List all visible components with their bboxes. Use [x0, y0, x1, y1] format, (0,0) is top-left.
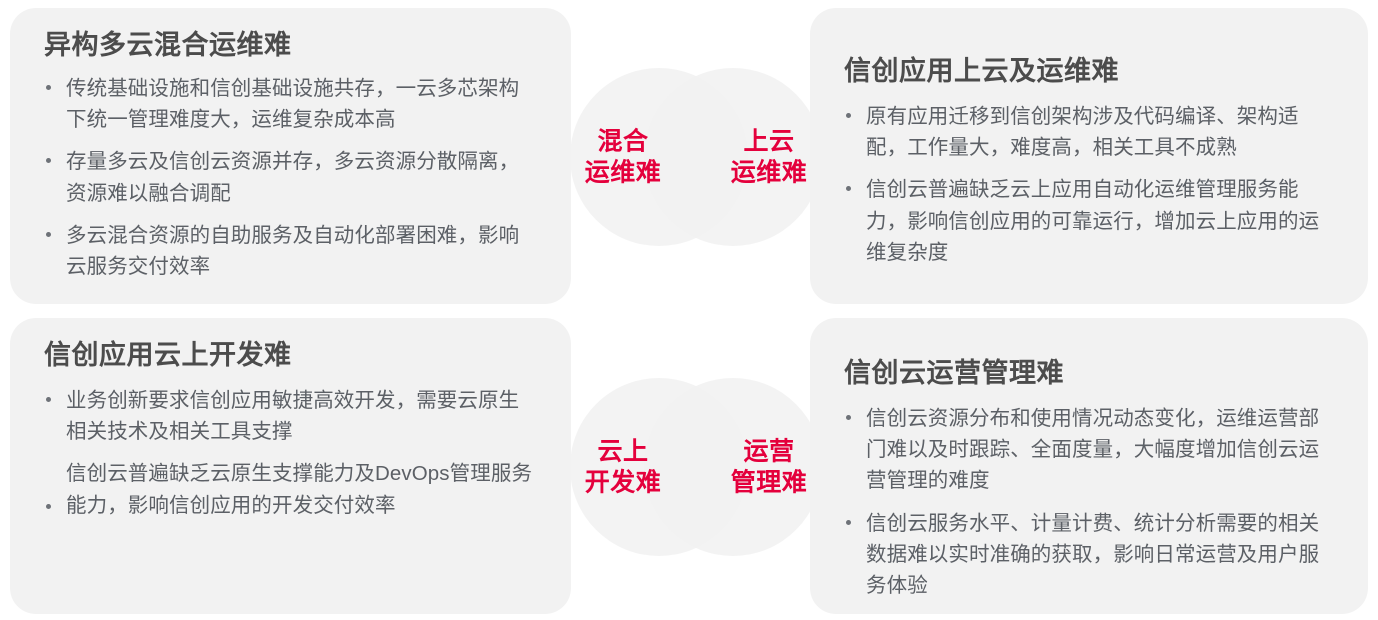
bullet-dot-icon	[46, 397, 51, 402]
panel-title: 信创应用云上开发难	[44, 340, 537, 371]
venn-diagram-bottom: 云上 开发难 运营 管理难	[570, 378, 822, 556]
panel-title: 异构多云混合运维难	[44, 30, 537, 61]
panel-xinchuang-app-cloud-development: 信创应用云上开发难 业务创新要求信创应用敏捷高效开发，需要云原生相关技术及相关工…	[10, 318, 571, 614]
list-item: 信创云服务水平、计量计费、统计分析需要的相关数据难以实时准确的获取，影响日常运营…	[844, 508, 1334, 601]
panel-xinchuang-app-cloud-migration-ops: 信创应用上云及运维难 原有应用迁移到信创架构涉及代码编译、架构适配，工作量大，难…	[810, 8, 1368, 304]
venn-label-operations-management: 运营 管理难	[709, 437, 829, 498]
list-item: 信创云资源分布和使用情况动态变化，运维运营部门难以及时跟踪、全面度量，大幅度增加…	[844, 403, 1334, 496]
list-item: 传统基础设施和信创基础设施共存，一云多芯架构下统一管理难度大，运维复杂成本高	[44, 73, 537, 135]
bullet-dot-icon	[846, 186, 851, 191]
bullet-dot-icon	[46, 158, 51, 163]
bullet-dot-icon	[846, 520, 851, 525]
bullet-list: 原有应用迁移到信创架构涉及代码编译、架构适配，工作量大，难度高，相关工具不成熟 …	[844, 101, 1334, 268]
list-item: 原有应用迁移到信创架构涉及代码编译、架构适配，工作量大，难度高，相关工具不成熟	[844, 101, 1334, 163]
list-item-text: 存量多云及信创云资源并存，多云资源分散隔离，资源难以融合调配	[66, 150, 519, 204]
bullet-dot-icon	[846, 113, 851, 118]
list-item: 业务创新要求信创应用敏捷高效开发，需要云原生相关技术及相关工具支撑	[44, 385, 537, 447]
infographic-canvas: 异构多云混合运维难 传统基础设施和信创基础设施共存，一云多芯架构下统一管理难度大…	[0, 0, 1378, 620]
list-item-text: 传统基础设施和信创基础设施共存，一云多芯架构下统一管理难度大，运维复杂成本高	[66, 77, 519, 131]
venn-label-cloud-development: 云上 开发难	[563, 437, 683, 498]
list-item-text: 多云混合资源的自助服务及自动化部署困难，影响云服务交付效率	[66, 224, 519, 278]
list-item: 多云混合资源的自助服务及自动化部署困难，影响云服务交付效率	[44, 220, 537, 282]
list-item-text: 业务创新要求信创应用敏捷高效开发，需要云原生相关技术及相关工具支撑	[66, 389, 519, 443]
venn-label-hybrid-ops: 混合 运维难	[563, 127, 683, 188]
panel-xinchuang-cloud-operations-management: 信创云运营管理难 信创云资源分布和使用情况动态变化，运维运营部门难以及时跟踪、全…	[810, 318, 1368, 614]
bullet-dot-icon	[46, 85, 51, 90]
list-item: 信创云普遍缺乏云原生支撑能力及DevOps管理服务能力，影响信创应用的开发交付效…	[44, 458, 537, 520]
list-item-text: 信创云服务水平、计量计费、统计分析需要的相关数据难以实时准确的获取，影响日常运营…	[866, 512, 1319, 597]
bullet-dot-icon	[46, 232, 51, 237]
bullet-dot-icon	[846, 415, 851, 420]
list-item-text: 信创云资源分布和使用情况动态变化，运维运营部门难以及时跟踪、全面度量，大幅度增加…	[866, 407, 1319, 492]
panel-title: 信创应用上云及运维难	[844, 56, 1334, 87]
list-item: 存量多云及信创云资源并存，多云资源分散隔离，资源难以融合调配	[44, 146, 537, 208]
bullet-list: 传统基础设施和信创基础设施共存，一云多芯架构下统一管理难度大，运维复杂成本高 存…	[44, 73, 537, 282]
bullet-dot-icon	[46, 504, 51, 509]
bullet-list: 信创云资源分布和使用情况动态变化，运维运营部门难以及时跟踪、全面度量，大幅度增加…	[844, 403, 1334, 601]
list-item-text: 原有应用迁移到信创架构涉及代码编译、架构适配，工作量大，难度高，相关工具不成熟	[866, 105, 1299, 159]
list-item-text: 信创云普遍缺乏云原生支撑能力及DevOps管理服务能力，影响信创应用的开发交付效…	[66, 462, 532, 516]
panel-heterogeneous-multicloud-ops: 异构多云混合运维难 传统基础设施和信创基础设施共存，一云多芯架构下统一管理难度大…	[10, 8, 571, 304]
panel-title: 信创云运营管理难	[844, 358, 1334, 389]
bullet-list: 业务创新要求信创应用敏捷高效开发，需要云原生相关技术及相关工具支撑 信创云普遍缺…	[44, 385, 537, 521]
list-item: 信创云普遍缺乏云上应用自动化运维管理服务能力，影响信创应用的可靠运行，增加云上应…	[844, 174, 1334, 267]
venn-label-cloud-migration-ops: 上云 运维难	[709, 127, 829, 188]
list-item-text: 信创云普遍缺乏云上应用自动化运维管理服务能力，影响信创应用的可靠运行，增加云上应…	[866, 178, 1319, 263]
venn-diagram-top: 混合 运维难 上云 运维难	[570, 68, 822, 246]
